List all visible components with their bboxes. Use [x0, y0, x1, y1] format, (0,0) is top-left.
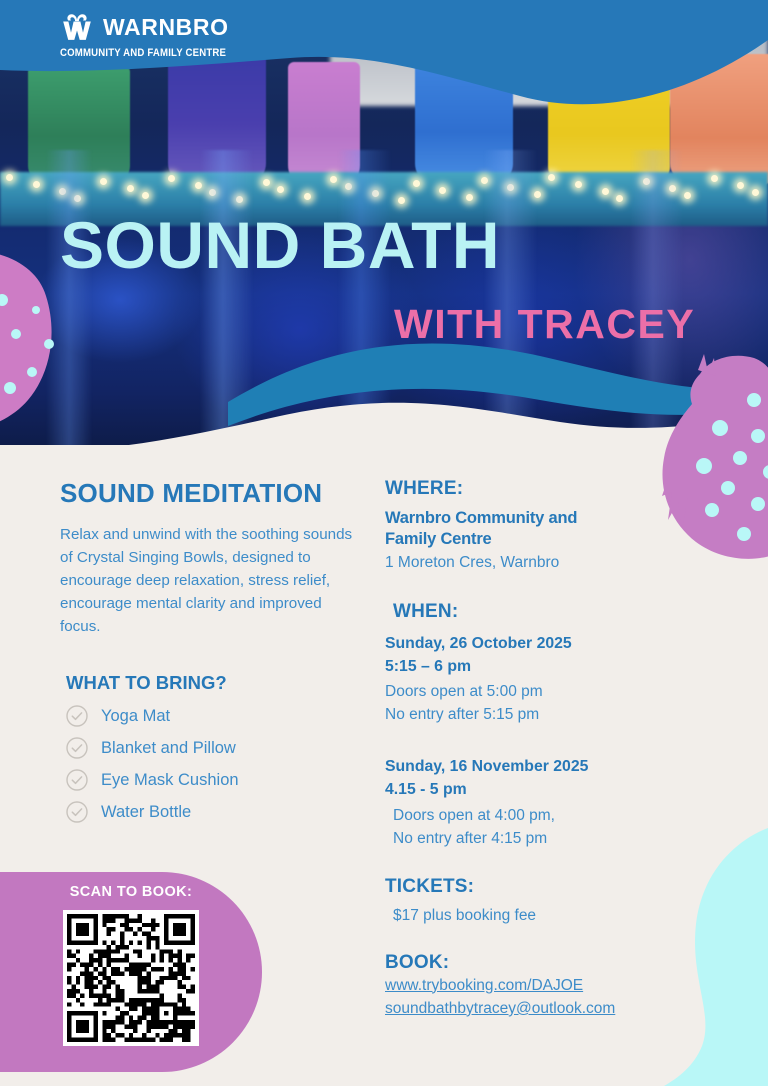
session-date: Sunday, 16 November 2025: [385, 756, 715, 779]
decor-blob-right: [648, 352, 768, 564]
what-to-bring-list: Yoga Mat Blanket and Pillow Eye Mask Cus…: [60, 700, 360, 828]
poster: WARNBRO COMMUNITY AND FAMILY CENTRE SOUN…: [0, 0, 768, 1086]
booking-url-link[interactable]: www.trybooking.com/DAJOE: [385, 974, 583, 997]
session-no-entry: No entry after 4:15 pm: [385, 828, 715, 850]
left-column: SOUND MEDITATION Relax and unwind with t…: [60, 478, 360, 828]
page-title: SOUND BATH: [60, 212, 500, 278]
heart-w-logo-icon: [60, 12, 94, 42]
bring-item-label: Eye Mask Cushion: [101, 771, 239, 790]
scan-to-book-panel: SCAN TO BOOK:: [0, 872, 262, 1072]
tickets-label: TICKETS:: [385, 876, 715, 898]
qr-code[interactable]: [63, 910, 199, 1046]
when-label: WHEN:: [385, 601, 715, 623]
check-circle-icon: [66, 737, 88, 759]
sound-meditation-description: Relax and unwind with the soothing sound…: [60, 523, 360, 638]
book-label: BOOK:: [385, 952, 715, 974]
session-block-1: Sunday, 26 October 2025 5:15 – 6 pm Door…: [385, 633, 715, 727]
scan-to-book-caption: SCAN TO BOOK:: [70, 884, 193, 900]
sound-meditation-heading: SOUND MEDITATION: [60, 478, 360, 509]
session-doors: Doors open at 5:00 pm: [385, 681, 715, 703]
bring-item-label: Blanket and Pillow: [101, 739, 236, 758]
brand-name: WARNBRO: [103, 16, 229, 39]
list-item: Eye Mask Cushion: [60, 764, 360, 796]
check-circle-icon: [66, 705, 88, 727]
list-item: Yoga Mat: [60, 700, 360, 732]
session-no-entry: No entry after 5:15 pm: [385, 704, 715, 726]
session-doors: Doors open at 4:00 pm,: [385, 805, 715, 827]
bring-item-label: Water Bottle: [101, 803, 191, 822]
brand-logo: WARNBRO COMMUNITY AND FAMILY CENTRE: [60, 12, 300, 59]
qr-code-image: [67, 914, 195, 1042]
brand-tagline: COMMUNITY AND FAMILY CENTRE: [60, 47, 266, 59]
booking-email-link[interactable]: soundbathbytracey@outlook.com: [385, 997, 615, 1020]
bring-item-label: Yoga Mat: [101, 707, 170, 726]
what-to-bring-heading: WHAT TO BRING?: [60, 672, 360, 694]
tickets-price: $17 plus booking fee: [385, 905, 715, 927]
session-date: Sunday, 26 October 2025: [385, 633, 715, 656]
page-subtitle: WITH TRACEY: [394, 304, 695, 345]
list-item: Blanket and Pillow: [60, 732, 360, 764]
session-block-2: Sunday, 16 November 2025 4.15 - 5 pm Doo…: [385, 756, 715, 850]
list-item: Water Bottle: [60, 796, 360, 828]
session-time: 5:15 – 6 pm: [385, 656, 715, 679]
check-circle-icon: [66, 801, 88, 823]
check-circle-icon: [66, 769, 88, 791]
session-time: 4.15 - 5 pm: [385, 779, 715, 802]
